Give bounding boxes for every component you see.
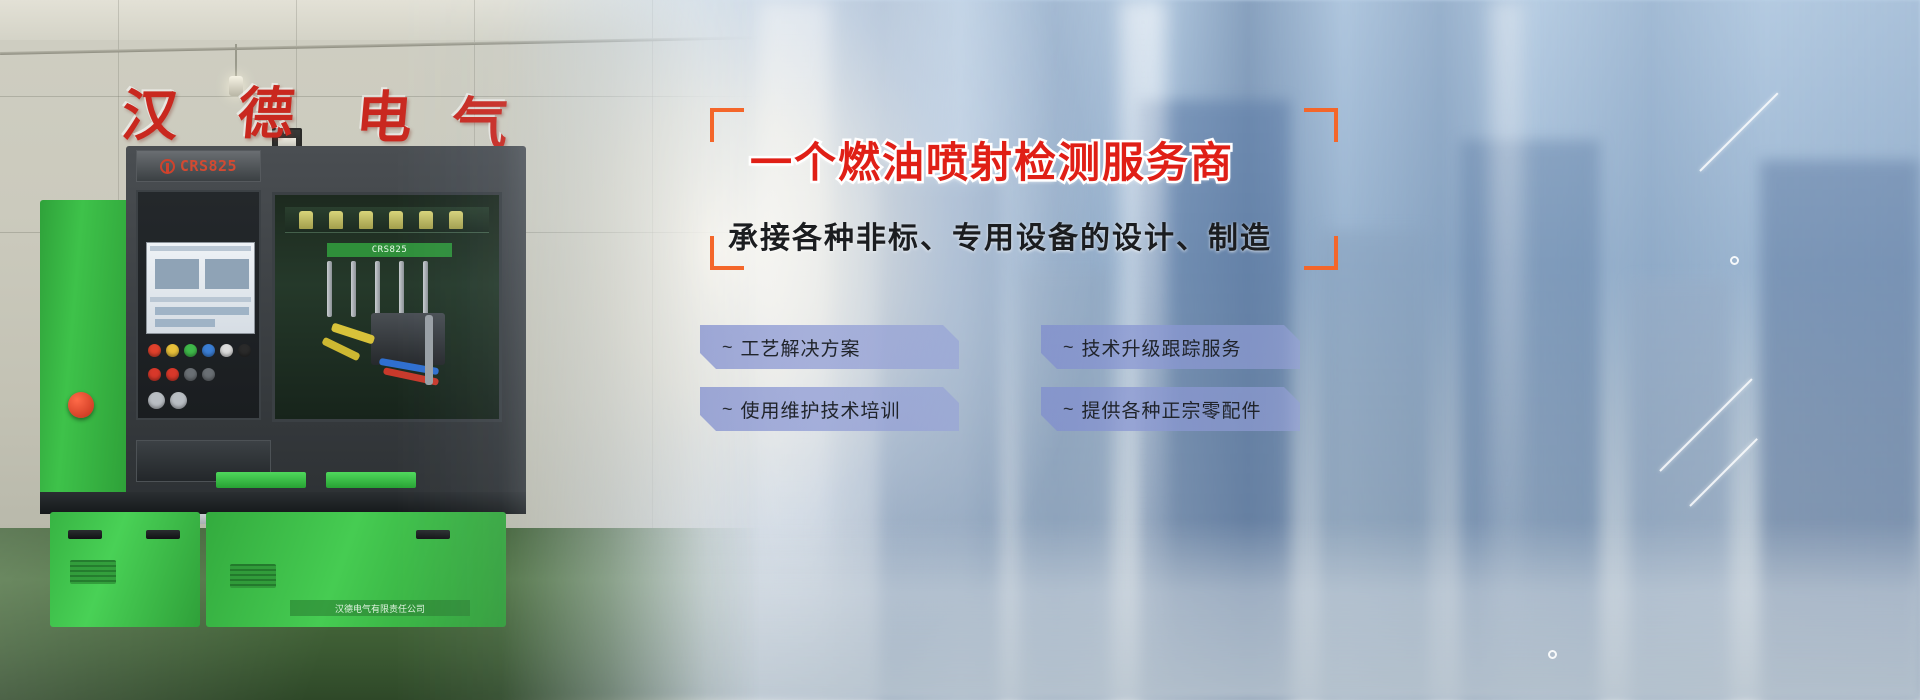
- injector-nozzle-icon: [359, 211, 373, 229]
- indicator-red-icon: [148, 344, 161, 357]
- machine-button-row: [148, 344, 253, 357]
- ventilation-grille: [70, 560, 116, 584]
- measuring-tube: [351, 261, 356, 317]
- ceiling-band: [0, 0, 760, 40]
- measuring-tube: [423, 261, 428, 317]
- screen-block: [205, 259, 249, 289]
- hero-subheadline: 承接各种非标、专用设备的设计、制造: [728, 222, 1328, 255]
- machine-base-rail: [40, 492, 526, 514]
- red-hose: [383, 367, 439, 385]
- measuring-tube: [327, 261, 332, 317]
- machine-dark-frame: [126, 146, 526, 506]
- machine-green-accent-strip: [326, 472, 416, 488]
- indicator-red-icon: [148, 368, 161, 381]
- screen-block: [155, 319, 215, 327]
- drawer-handle[interactable]: [146, 530, 180, 539]
- service-tag-row: ~ 工艺解决方案 ~ 技术升级跟踪服务: [700, 325, 1300, 369]
- yellow-hose: [321, 337, 360, 362]
- ceiling-lamp-icon: [229, 76, 243, 96]
- rotary-knob-icon: [170, 392, 187, 409]
- hydraulic-block: [371, 313, 445, 365]
- indicator-black-icon: [238, 344, 251, 357]
- emergency-stop-button[interactable]: [68, 392, 94, 418]
- injector-nozzle-icon: [419, 211, 433, 229]
- grey-hose: [425, 315, 433, 385]
- blue-hose: [379, 358, 439, 375]
- screen-block: [155, 307, 249, 315]
- service-tag-row: ~ 使用维护技术培训 ~ 提供各种正宗零配件: [700, 387, 1300, 431]
- service-tag-list: ~ 工艺解决方案 ~ 技术升级跟踪服务 ~ 使用维护技术培训 ~ 提供各种正宗零…: [700, 325, 1300, 449]
- ventilation-grille: [230, 564, 276, 588]
- machine-knob-row: [148, 392, 253, 409]
- product-photo: 汉 德 电 气 CRS825: [0, 0, 760, 700]
- measuring-tube: [399, 261, 404, 317]
- wall-calligraphy-char: 汉: [120, 88, 181, 144]
- machine-test-chamber-window: CRS825: [272, 192, 502, 422]
- machine-nameplate: CRS825: [136, 150, 261, 182]
- lamp-cord: [235, 44, 237, 78]
- indicator-grey-icon: [202, 368, 215, 381]
- brand-logo-icon: [160, 159, 175, 174]
- floor-sheen: [0, 528, 760, 700]
- machine-button-row: [148, 368, 253, 381]
- service-tag[interactable]: ~ 使用维护技术培训: [700, 387, 959, 431]
- tilde-icon: ~: [1063, 337, 1075, 358]
- drawer-handle[interactable]: [68, 530, 102, 539]
- wall-seam: [652, 0, 653, 700]
- rotary-knob-icon: [148, 392, 165, 409]
- injector-nozzle-icon: [389, 211, 403, 229]
- machine-left-green-panel: [40, 200, 136, 500]
- tilde-icon: ~: [722, 399, 734, 420]
- indicator-blue-icon: [202, 344, 215, 357]
- hero-content: 一个燃油喷射检测服务商 承接各种非标、专用设备的设计、制造 ~ 工艺解决方案 ~…: [700, 0, 1920, 700]
- screen-block: [155, 259, 199, 289]
- wall-seam: [0, 96, 760, 97]
- workshop-floor: [0, 528, 760, 700]
- service-tag-label: 使用维护技术培训: [741, 396, 901, 423]
- tilde-icon: ~: [722, 337, 734, 358]
- yellow-hose: [331, 322, 376, 344]
- chamber-shelf: [285, 207, 489, 233]
- service-tag[interactable]: ~ 工艺解决方案: [700, 325, 959, 369]
- machine-drawer: [50, 512, 200, 627]
- service-tag[interactable]: ~ 提供各种正宗零配件: [1041, 387, 1300, 431]
- wall-calligraphy-char: 电: [354, 90, 415, 146]
- screen-statusbar: [150, 297, 251, 302]
- injector-nozzle-icon: [329, 211, 343, 229]
- indicator-red-icon: [166, 368, 179, 381]
- injector-nozzle-icon: [299, 211, 313, 229]
- chamber-model-label: CRS825: [327, 243, 452, 257]
- indicator-grey-icon: [184, 368, 197, 381]
- indicator-yellow-icon: [166, 344, 179, 357]
- machine-model-label: CRS825: [180, 157, 237, 175]
- fuel-injector-test-bench: CRS825: [40, 140, 560, 540]
- measuring-tube: [375, 261, 380, 317]
- machine-display-screen: [146, 242, 255, 334]
- machine-keyboard: [168, 508, 292, 524]
- service-tag[interactable]: ~ 技术升级跟踪服务: [1041, 325, 1300, 369]
- indicator-green-icon: [184, 344, 197, 357]
- indicator-white-icon: [220, 344, 233, 357]
- company-name-strip: 汉德电气有限责任公司: [290, 600, 470, 616]
- machine-green-accent-strip: [216, 472, 306, 488]
- service-tag-label: 技术升级跟踪服务: [1082, 334, 1242, 361]
- injector-nozzle-icon: [449, 211, 463, 229]
- machine-control-panel: [136, 190, 261, 420]
- corner-bracket-top-left-icon: [710, 108, 744, 142]
- corner-bracket-top-right-icon: [1304, 108, 1338, 142]
- service-tag-label: 提供各种正宗零配件: [1082, 396, 1262, 423]
- screen-toolbar: [150, 246, 251, 251]
- service-tag-label: 工艺解决方案: [741, 334, 861, 361]
- hero-headline: 一个燃油喷射检测服务商: [750, 140, 1330, 185]
- hero-banner: 汉 德 电 气 CRS825: [0, 0, 1920, 700]
- ceiling-pipe: [0, 36, 760, 55]
- machine-keyboard-tray: [136, 440, 271, 482]
- drawer-handle[interactable]: [416, 530, 450, 539]
- wall-calligraphy-char: 德: [236, 86, 297, 142]
- machine-drawer: [206, 512, 506, 627]
- tilde-icon: ~: [1063, 399, 1075, 420]
